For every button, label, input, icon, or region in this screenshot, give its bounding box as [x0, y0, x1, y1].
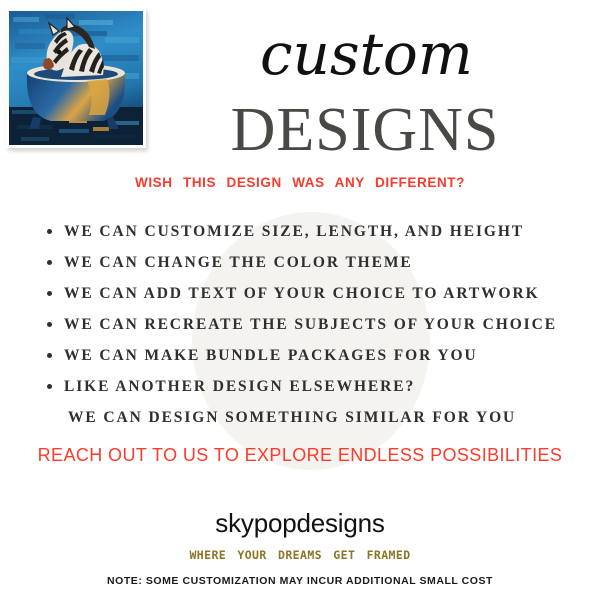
call-to-action-text: REACH OUT TO US TO EXPLORE ENDLESS POSSI…: [0, 445, 600, 466]
feature-list: WE CAN CUSTOMIZE SIZE, LENGTH, AND HEIGH…: [46, 216, 591, 433]
poster-canvas: custom DESIGNS WISH THIS DESIGN WAS ANY …: [0, 0, 600, 600]
list-item: WE CAN ADD TEXT OF YOUR CHOICE TO ARTWOR…: [46, 278, 591, 309]
artwork-thumbnail[interactable]: [6, 8, 146, 148]
list-item: LIKE ANOTHER DESIGN ELSEWHERE?: [46, 371, 591, 402]
list-item: WE CAN CUSTOMIZE SIZE, LENGTH, AND HEIGH…: [46, 216, 591, 247]
footer-note: NOTE: SOME CUSTOMIZATION MAY INCUR ADDIT…: [0, 575, 600, 587]
zebra-in-bathtub-painting-icon: [9, 11, 143, 145]
brand-logo-text: skypopdesigns: [0, 508, 600, 539]
list-item-continuation: WE CAN DESIGN SOMETHING SIMILAR FOR YOU: [46, 402, 591, 433]
subtitle-question: WISH THIS DESIGN WAS ANY DIFFERENT?: [0, 175, 600, 190]
script-heading-text: custom: [260, 20, 473, 88]
script-heading-custom: custom: [252, 22, 582, 88]
list-item: WE CAN CHANGE THE COLOR THEME: [46, 247, 591, 278]
list-item: WE CAN MAKE BUNDLE PACKAGES FOR YOU: [46, 340, 591, 371]
brand-tagline: WHERE YOUR DREAMS GET FRAMED: [0, 548, 600, 562]
list-item: WE CAN RECREATE THE SUBJECTS OF YOUR CHO…: [46, 309, 591, 340]
